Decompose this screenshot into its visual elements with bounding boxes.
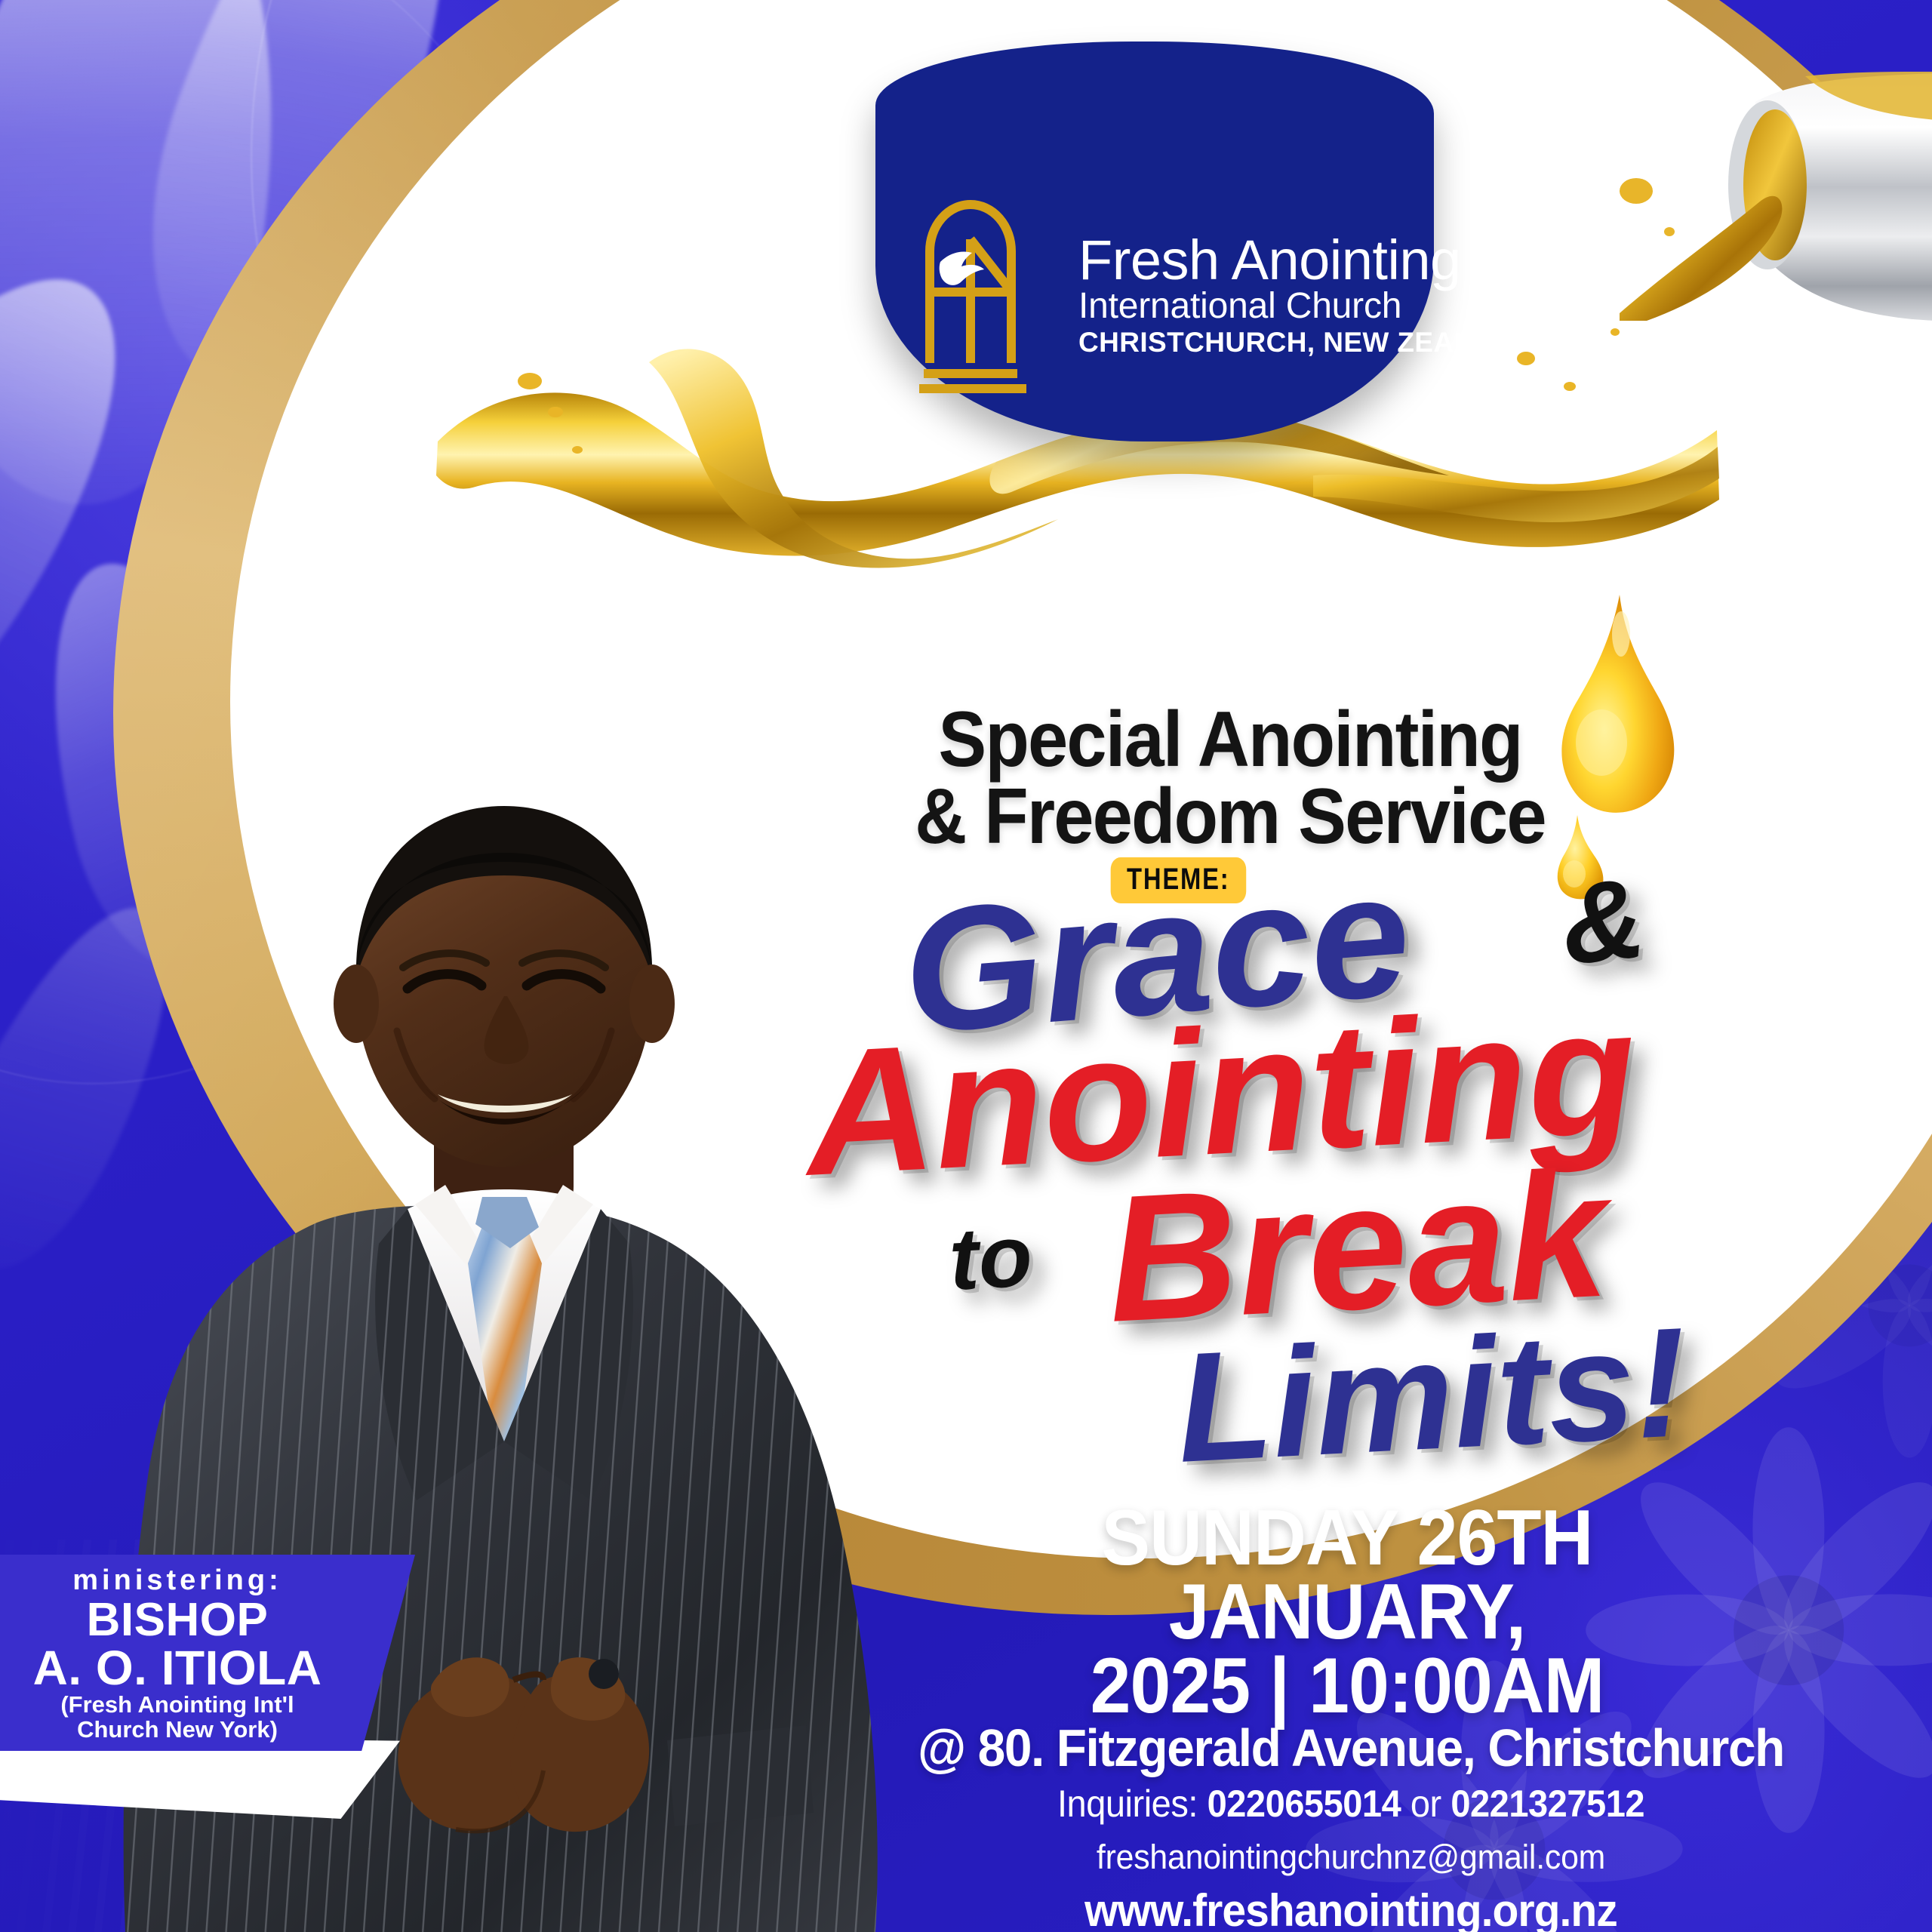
theme-word-ampersand: & bbox=[1557, 869, 1648, 974]
ministering-kicker: ministering: bbox=[0, 1565, 362, 1597]
headline-line-1: Special Anointing bbox=[820, 702, 1640, 779]
ministering-title: BISHOP bbox=[0, 1597, 362, 1644]
inquiries-phone-1[interactable]: 0220655014 bbox=[1207, 1783, 1401, 1825]
date-line-3: 2025 | 10:00AM bbox=[881, 1650, 1814, 1724]
event-headline: Special Anointing & Freedom Service bbox=[820, 702, 1640, 856]
contact-email[interactable]: freshanointingchurchnz@gmail.com bbox=[849, 1832, 1853, 1881]
ministering-name: A. O. ITIOLA bbox=[0, 1644, 362, 1693]
contact-block: @ 80. Fitzgerald Avenue, Christchurch In… bbox=[823, 1721, 1879, 1932]
inquiries-separator: or bbox=[1411, 1783, 1441, 1825]
logo-church-subtitle: International Church bbox=[1078, 287, 1541, 326]
flyer-canvas: Fresh Anointing International Church CHR… bbox=[0, 0, 1932, 1932]
contact-website[interactable]: www.freshanointing.org.nz bbox=[849, 1881, 1853, 1932]
ministering-affiliation: (Fresh Anointing Int'l bbox=[0, 1693, 362, 1718]
theme-word-to: to bbox=[947, 1218, 1034, 1297]
ministering-banner: ministering: BISHOP A. O. ITIOLA (Fresh … bbox=[0, 1555, 415, 1751]
logo-church-name: Fresh Anointing bbox=[1078, 233, 1541, 287]
church-logo-panel: Fresh Anointing International Church CHR… bbox=[875, 42, 1434, 441]
date-line-2: JANUARY, bbox=[881, 1576, 1814, 1650]
ministering-affiliation: Church New York) bbox=[0, 1718, 362, 1743]
inquiries-line: Inquiries: 0220655014 or 0221327512 bbox=[854, 1776, 1847, 1832]
theme-word-limits: Limits! bbox=[1174, 1315, 1690, 1475]
inquiries-phone-2[interactable]: 0221327512 bbox=[1451, 1783, 1644, 1825]
event-address: @ 80. Fitzgerald Avenue, Christchurch bbox=[854, 1721, 1847, 1776]
inquiries-label: Inquiries: bbox=[1057, 1783, 1198, 1825]
headline-line-2: & Freedom Service bbox=[820, 779, 1640, 856]
date-line-1: SUNDAY 26TH bbox=[881, 1502, 1814, 1576]
church-arch-dove-icon bbox=[919, 192, 1059, 396]
logo-church-location: CHRISTCHURCH, NEW ZEALAND. bbox=[1078, 326, 1541, 359]
logo-text-block: Fresh Anointing International Church CHR… bbox=[1078, 229, 1541, 359]
event-datetime: SUNDAY 26TH JANUARY, 2025 | 10:00AM bbox=[881, 1502, 1814, 1723]
